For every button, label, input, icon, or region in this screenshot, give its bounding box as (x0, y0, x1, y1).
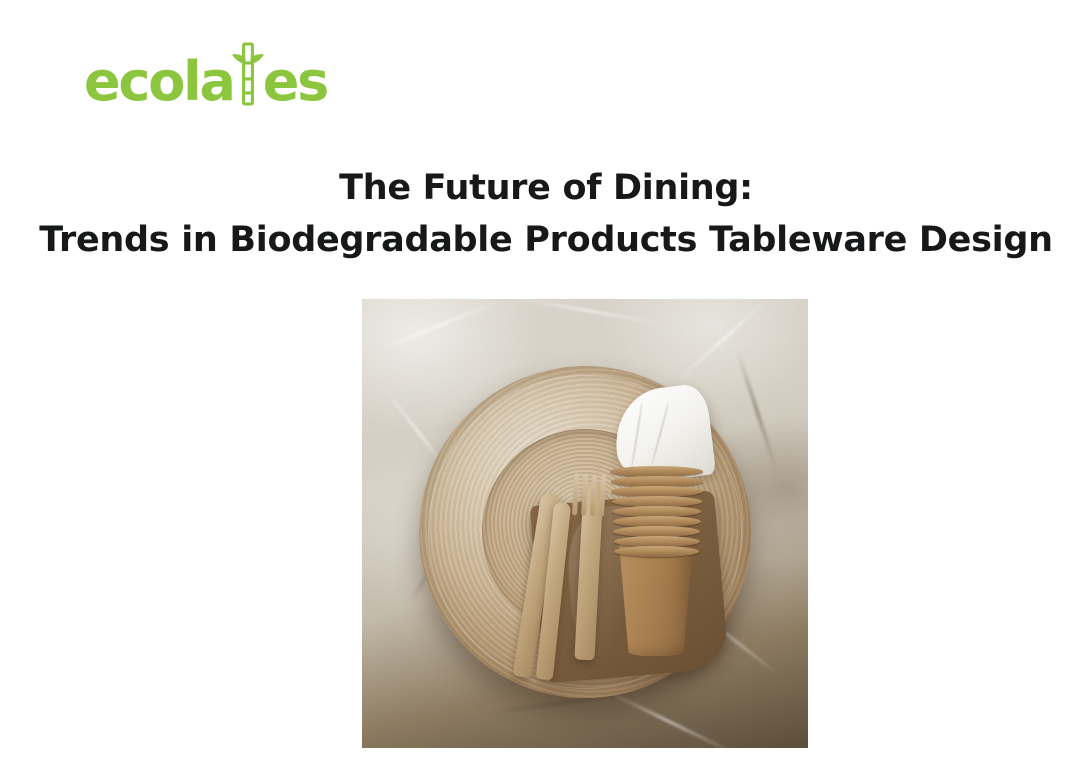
paper-crease (599, 686, 735, 748)
fork-tine (590, 475, 597, 517)
hero-image-backdrop (362, 299, 808, 748)
paper-crease (513, 299, 661, 325)
fork-tine (572, 474, 579, 516)
kraft-cup-body (616, 544, 696, 656)
hero-image: Bamboo plate with wooden cutlery, stacke… (362, 299, 808, 748)
page-title-line-2: Trends in Biodegradable Products Tablewa… (0, 215, 1092, 267)
bamboo-stalk-icon (231, 42, 265, 108)
page-title: The Future of Dining: Trends in Biodegra… (0, 163, 1092, 267)
paper-crease (376, 301, 498, 352)
page-canvas: ecola es The Future of Dining: Trends in… (0, 0, 1092, 773)
bamboo-plate (419, 366, 751, 698)
fork-tine (581, 474, 588, 516)
kraft-cup-rings (610, 466, 703, 558)
kraft-cup-stack (610, 450, 703, 656)
brand-name-prefix: ecola (84, 56, 234, 108)
paper-crease (735, 349, 779, 474)
fork-tine (599, 475, 606, 517)
page-title-line-1: The Future of Dining: (0, 163, 1092, 215)
brand-name-suffix: es (263, 56, 327, 108)
cup-rim-ring (614, 546, 699, 557)
paper-crease (676, 299, 767, 382)
brand-logo[interactable]: ecola es (84, 48, 327, 108)
fork-tines (570, 474, 610, 522)
